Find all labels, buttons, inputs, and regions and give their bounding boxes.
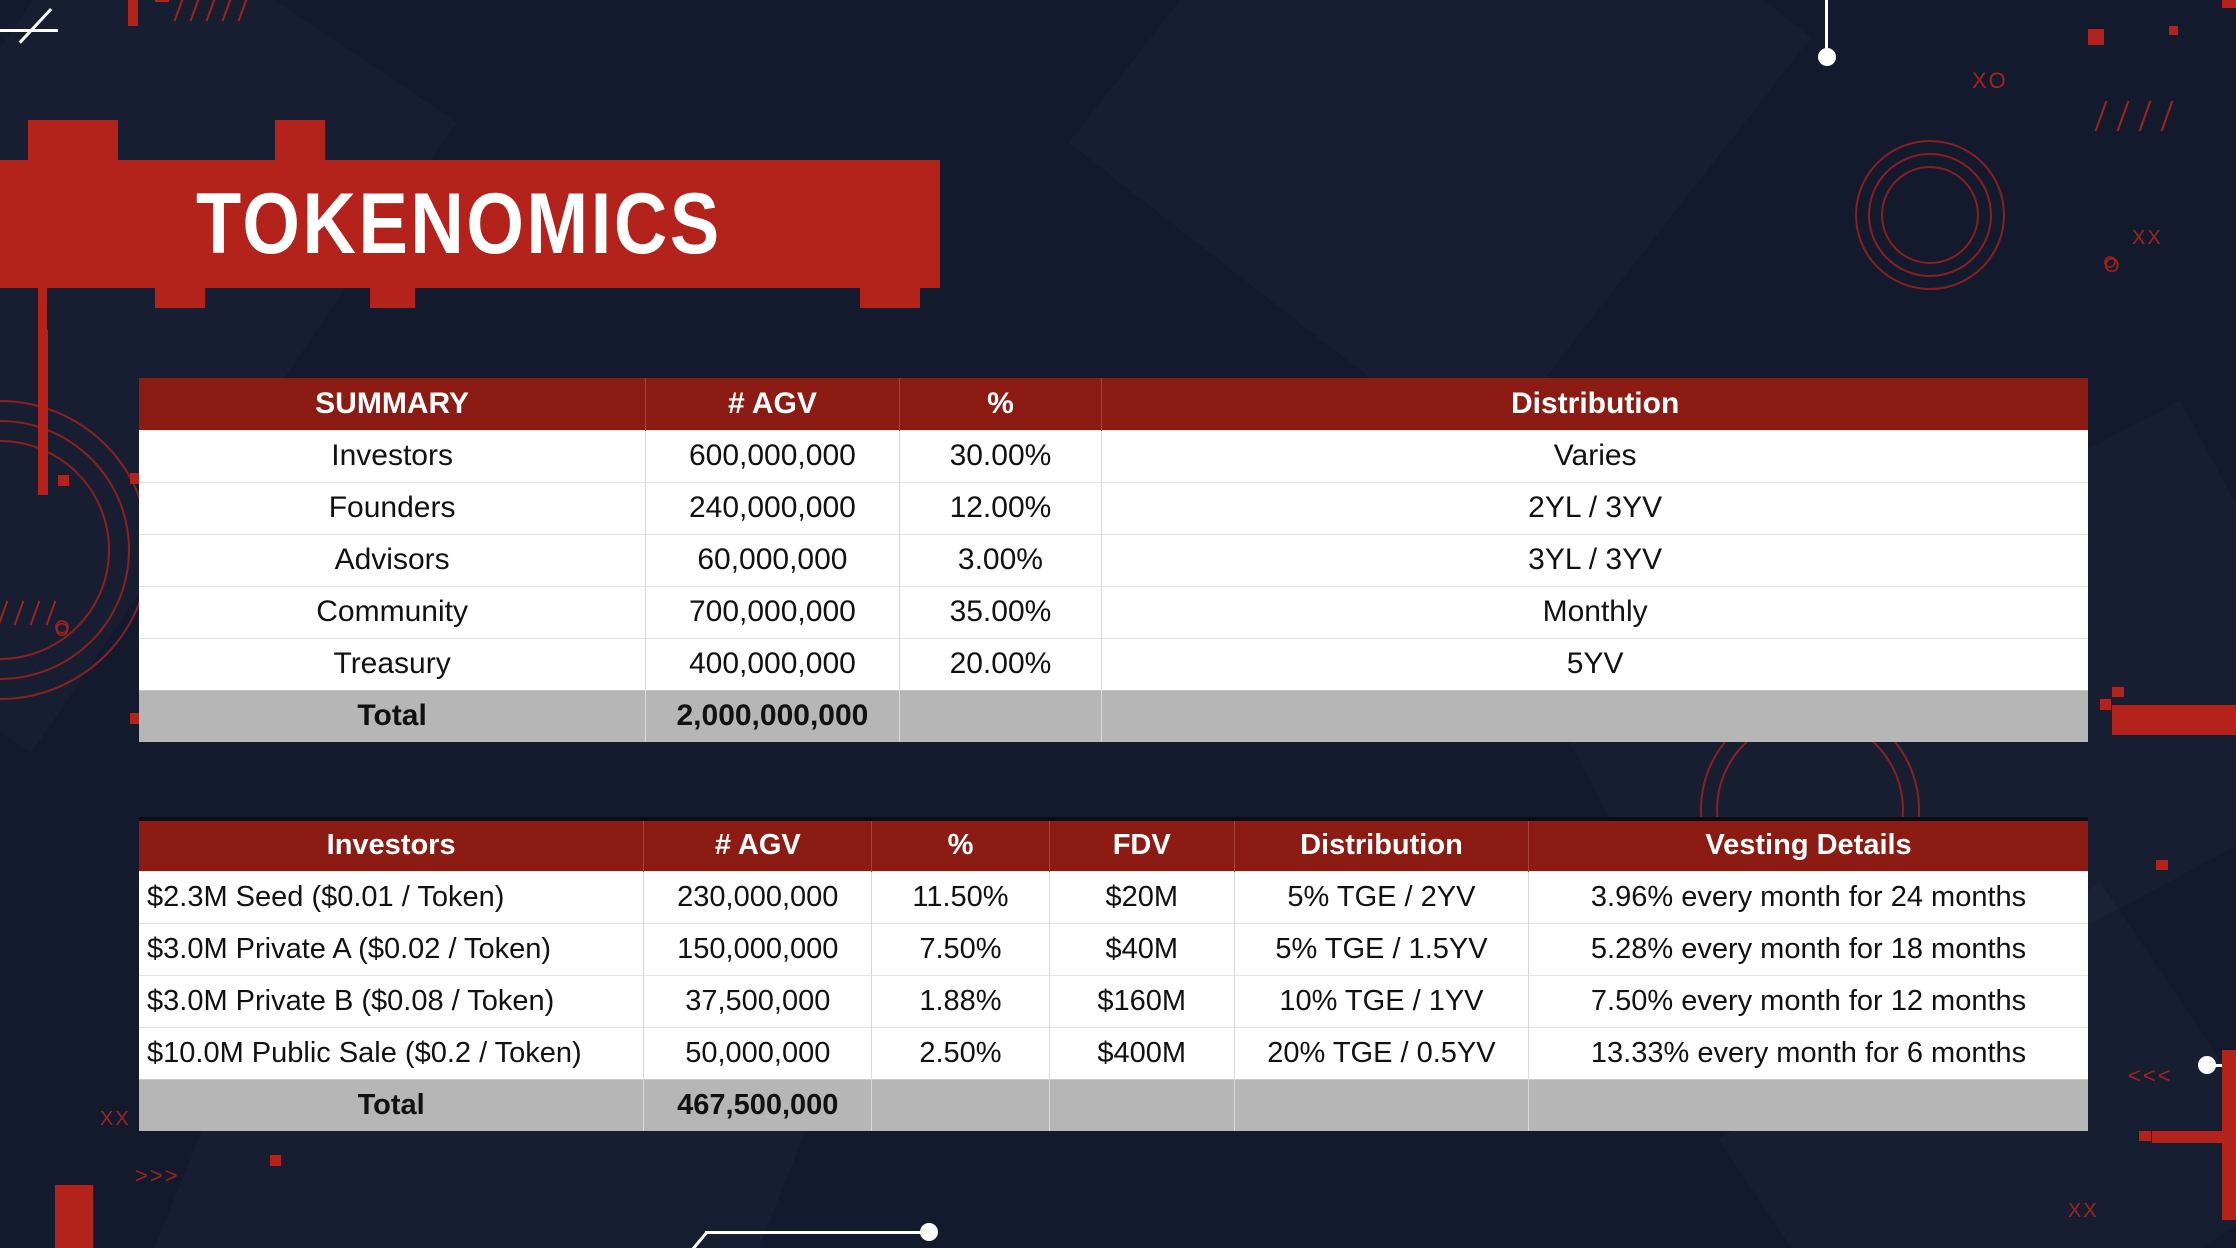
investors-cell-fdv: $160M: [1049, 975, 1234, 1027]
table-row: $2.3M Seed ($0.01 / Token) 230,000,000 1…: [139, 871, 2088, 923]
decor-red-square: [2088, 29, 2104, 45]
investors-cell-vesting: 13.33% every month for 6 months: [1529, 1027, 2088, 1079]
summary-total-pct: [899, 690, 1102, 742]
investors-table: Investors # AGV % FDV Distribution Vesti…: [139, 817, 2088, 1131]
summary-cell-pct: 35.00%: [899, 586, 1102, 638]
decor-ring-middle-left: [0, 420, 130, 680]
decor-ring-inner-topright: [1881, 166, 1979, 264]
investors-cell-agv: 50,000,000: [644, 1027, 872, 1079]
investors-cell-agv: 150,000,000: [644, 923, 872, 975]
investors-col-fdv: FDV: [1049, 819, 1234, 871]
table-row: $3.0M Private B ($0.08 / Token) 37,500,0…: [139, 975, 2088, 1027]
investors-cell-distribution: 5% TGE / 2YV: [1234, 871, 1528, 923]
summary-cell-agv: 60,000,000: [646, 534, 899, 586]
summary-cell-distribution: Monthly: [1102, 586, 2088, 638]
decor-slash: [206, 0, 217, 22]
investors-cell-fdv: $400M: [1049, 1027, 1234, 1079]
summary-cell-distribution: 5YV: [1102, 638, 2088, 690]
decor-red-square: [2100, 699, 2111, 710]
decor-white-angled-segment-top: [19, 8, 53, 44]
decor-red-cross-vertical: [2222, 1050, 2236, 1220]
decor-red-rect-right: [2112, 705, 2236, 735]
banner-notch-bottom-right: [860, 286, 920, 308]
decor-red-square: [2222, 0, 2236, 8]
decor-slash: [2139, 101, 2152, 132]
decor-red-square: [270, 1155, 281, 1166]
investors-col-agv: # AGV: [644, 819, 872, 871]
decor-white-pin-dot-right: [2198, 1056, 2216, 1074]
table-row: $10.0M Public Sale ($0.2 / Token) 50,000…: [139, 1027, 2088, 1079]
decor-red-square-left: [58, 475, 69, 486]
summary-total-distribution: [1102, 690, 2088, 742]
decor-red-cross-horizontal: [2152, 1131, 2236, 1143]
summary-table-header-row: SUMMARY # AGV % Distribution: [139, 378, 2088, 430]
summary-col-pct: %: [899, 378, 1102, 430]
decor-ring-middle-topright: [1868, 153, 1992, 277]
investors-cell-name: $10.0M Public Sale ($0.2 / Token): [139, 1027, 644, 1079]
summary-cell-distribution: 3YL / 3YV: [1102, 534, 2088, 586]
decor-slash: [174, 0, 185, 22]
summary-table: SUMMARY # AGV % Distribution Investors 6…: [139, 378, 2088, 742]
investors-cell-fdv: $40M: [1049, 923, 1234, 975]
decor-mark-o-left: O: [55, 620, 71, 641]
decor-mark-arrows-right: >>>: [135, 1163, 180, 1189]
summary-cell-name: Investors: [139, 430, 646, 482]
decor-red-block-bottom-left: [55, 1185, 93, 1248]
summary-total-label: Total: [139, 690, 646, 742]
summary-col-summary: SUMMARY: [139, 378, 646, 430]
summary-cell-agv: 600,000,000: [646, 430, 899, 482]
investors-total-agv: 467,500,000: [644, 1079, 872, 1131]
summary-total-row: Total 2,000,000,000: [139, 690, 2088, 742]
decor-mark-o-right: O: [2104, 255, 2122, 278]
decor-slash: [238, 0, 249, 22]
decor-white-pin-line-right: [2212, 1064, 2236, 1067]
decor-red-square: [2112, 687, 2124, 697]
investors-cell-pct: 7.50%: [872, 923, 1049, 975]
banner-notch-top-right: [275, 120, 325, 162]
investors-col-pct: %: [872, 819, 1049, 871]
investors-col-vesting: Vesting Details: [1529, 819, 2088, 871]
decor-slash: [0, 600, 8, 625]
decor-mark-xx-left: XX: [100, 1108, 131, 1131]
summary-cell-name: Founders: [139, 482, 646, 534]
decor-white-line-bottom: [705, 1231, 930, 1234]
investors-cell-fdv: $20M: [1049, 871, 1234, 923]
decor-white-line-dot-bottom: [920, 1223, 938, 1241]
decor-ring-small-left: [55, 620, 69, 634]
banner-stem: [38, 286, 47, 491]
summary-cell-pct: 20.00%: [899, 638, 1102, 690]
banner-notch-bottom-left: [155, 286, 205, 308]
decor-slash: [2117, 101, 2130, 132]
investors-cell-name: $3.0M Private A ($0.02 / Token): [139, 923, 644, 975]
investors-cell-vesting: 5.28% every month for 18 months: [1529, 923, 2088, 975]
summary-cell-pct: 12.00%: [899, 482, 1102, 534]
banner-notch-bottom-mid: [370, 286, 415, 308]
investors-cell-distribution: 20% TGE / 0.5YV: [1234, 1027, 1528, 1079]
decor-mark-arrows-left: <<<: [2128, 1063, 2173, 1089]
summary-col-distribution: Distribution: [1102, 378, 2088, 430]
table-row: Advisors 60,000,000 3.00% 3YL / 3YV: [139, 534, 2088, 586]
decor-slash: [46, 600, 57, 625]
summary-cell-pct: 3.00%: [899, 534, 1102, 586]
investors-total-vesting: [1529, 1079, 2088, 1131]
investors-cell-vesting: 7.50% every month for 12 months: [1529, 975, 2088, 1027]
summary-cell-agv: 400,000,000: [646, 638, 899, 690]
decor-ring-outer-left: [0, 400, 150, 700]
decor-red-square: [2169, 26, 2178, 35]
table-row: Community 700,000,000 35.00% Monthly: [139, 586, 2088, 638]
banner-notch-top-left: [28, 120, 118, 162]
summary-cell-name: Treasury: [139, 638, 646, 690]
decor-red-bar-top: [128, 0, 138, 26]
decor-slash: [2161, 101, 2174, 132]
investors-total-distribution: [1234, 1079, 1528, 1131]
summary-cell-name: Advisors: [139, 534, 646, 586]
decor-slash: [30, 600, 41, 625]
decor-white-pin-dot-top: [1818, 48, 1836, 66]
investors-cell-pct: 11.50%: [872, 871, 1049, 923]
investors-cell-pct: 1.88%: [872, 975, 1049, 1027]
table-row: $3.0M Private A ($0.02 / Token) 150,000,…: [139, 923, 2088, 975]
decor-red-dash-top: [155, 0, 169, 2]
summary-cell-distribution: 2YL / 3YV: [1102, 482, 2088, 534]
summary-cell-pct: 30.00%: [899, 430, 1102, 482]
table-row: Founders 240,000,000 12.00% 2YL / 3YV: [139, 482, 2088, 534]
investors-cell-name: $2.3M Seed ($0.01 / Token): [139, 871, 644, 923]
summary-cell-agv: 240,000,000: [646, 482, 899, 534]
slide-canvas: XO XX O XX >>> <<< XX O XX TOKENOMICS SU…: [0, 0, 2236, 1248]
decor-white-angled-segment-bottom: [683, 1231, 708, 1248]
investors-total-fdv: [1049, 1079, 1234, 1131]
decor-slash: [2095, 101, 2108, 132]
summary-cell-name: Community: [139, 586, 646, 638]
investors-col-investors: Investors: [139, 819, 644, 871]
summary-cell-distribution: Varies: [1102, 430, 2088, 482]
decor-slash: [14, 600, 25, 625]
investors-cell-agv: 230,000,000: [644, 871, 872, 923]
investors-cell-distribution: 5% TGE / 1.5YV: [1234, 923, 1528, 975]
decor-red-square: [2156, 860, 2168, 870]
investors-cell-vesting: 3.96% every month for 24 months: [1529, 871, 2088, 923]
decor-slash: [190, 0, 201, 22]
summary-col-agv: # AGV: [646, 378, 899, 430]
investors-cell-pct: 2.50%: [872, 1027, 1049, 1079]
decor-white-angled-line-top: [0, 29, 58, 32]
summary-total-agv: 2,000,000,000: [646, 690, 899, 742]
decor-ring-inner-left: [0, 440, 110, 660]
decor-slash: [222, 0, 233, 22]
decor-ring-small-topright: [2104, 256, 2116, 268]
table-row: Investors 600,000,000 30.00% Varies: [139, 430, 2088, 482]
investors-total-row: Total 467,500,000: [139, 1079, 2088, 1131]
investors-total-pct: [872, 1079, 1049, 1131]
summary-cell-agv: 700,000,000: [646, 586, 899, 638]
investors-total-label: Total: [139, 1079, 644, 1131]
decor-mark-xx-right: XX: [2132, 227, 2163, 250]
investors-cell-agv: 37,500,000: [644, 975, 872, 1027]
page-title: TOKENOMICS: [196, 160, 722, 288]
decor-mark-xx-bottom: XX: [2068, 1200, 2099, 1223]
investors-cell-distribution: 10% TGE / 1YV: [1234, 975, 1528, 1027]
table-row: Treasury 400,000,000 20.00% 5YV: [139, 638, 2088, 690]
decor-white-pin-line-top: [1825, 0, 1828, 58]
investors-col-distribution: Distribution: [1234, 819, 1528, 871]
title-banner: TOKENOMICS: [0, 160, 940, 288]
decor-mark-xo: XO: [1972, 68, 2008, 94]
investors-table-header-row: Investors # AGV % FDV Distribution Vesti…: [139, 819, 2088, 871]
decor-red-square: [2139, 1131, 2151, 1141]
investors-cell-name: $3.0M Private B ($0.08 / Token): [139, 975, 644, 1027]
decor-ring-outer-topright: [1855, 140, 2005, 290]
